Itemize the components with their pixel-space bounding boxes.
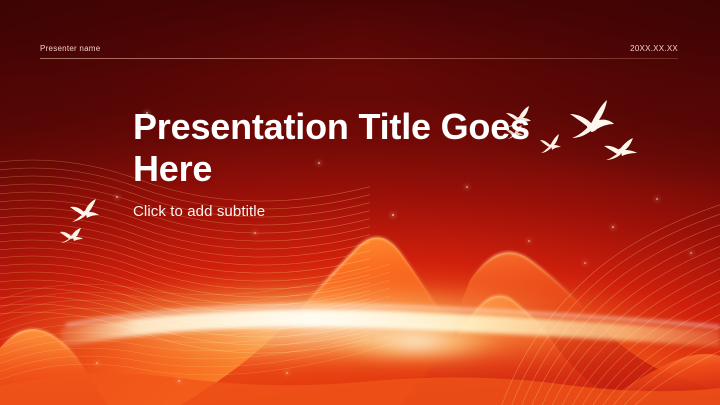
slide-header: Presenter name 20XX.XX.XX <box>40 44 678 66</box>
title-block: Presentation Title Goes Here Click to ad… <box>133 106 553 220</box>
header-row: Presenter name 20XX.XX.XX <box>40 44 678 53</box>
slide-date-text[interactable]: 20XX.XX.XX <box>630 44 678 53</box>
slide-subtitle-placeholder[interactable]: Click to add subtitle <box>133 203 553 220</box>
slide-title[interactable]: Presentation Title Goes Here <box>133 106 553 191</box>
presentation-slide: Presenter name 20XX.XX.XX Presentation T… <box>0 0 720 405</box>
header-divider <box>40 58 678 59</box>
presenter-name-text[interactable]: Presenter name <box>40 44 100 53</box>
